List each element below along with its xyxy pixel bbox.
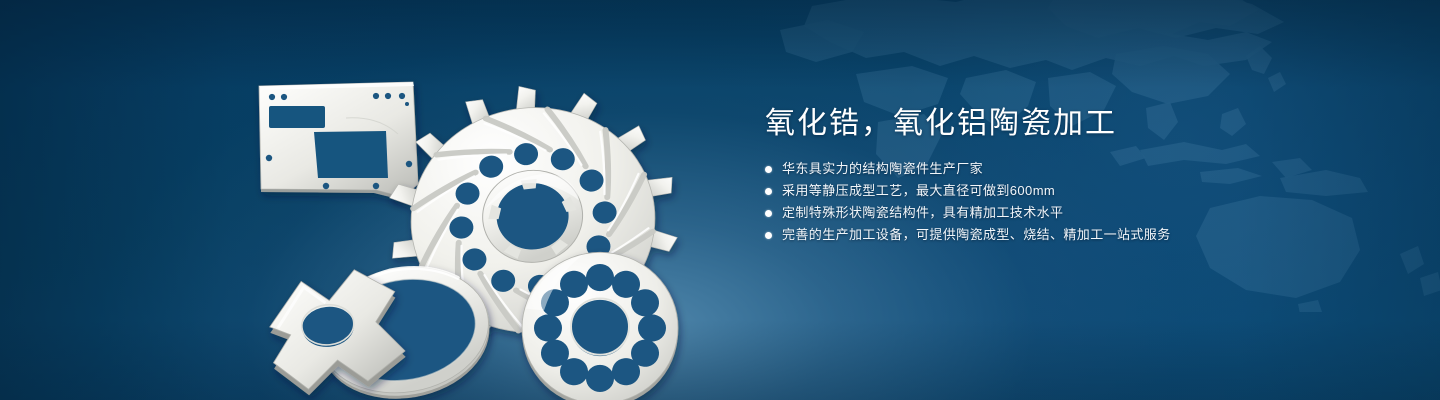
list-item: 采用等静压成型工艺，最大直径可做到600mm [765,180,1325,202]
list-item: 完善的生产加工设备，可提供陶瓷成型、烧结、精加工一站式服务 [765,224,1325,246]
list-item-label: 华东具实力的结构陶瓷件生产厂家 [782,158,983,180]
hero-banner: 氧化锆，氧化铝陶瓷加工 华东具实力的结构陶瓷件生产厂家 采用等静压成型工艺，最大… [0,0,1440,400]
list-item: 华东具实力的结构陶瓷件生产厂家 [765,158,1325,180]
bullet-dot-icon [765,166,772,173]
list-item-label: 定制特殊形状陶瓷结构件，具有精加工技术水平 [782,202,1063,224]
bullet-dot-icon [765,232,772,239]
list-item: 定制特殊形状陶瓷结构件，具有精加工技术水平 [765,202,1325,224]
ceramic-machined-plate [259,82,418,200]
ceramic-parts-photo [228,38,718,390]
page-title: 氧化锆，氧化铝陶瓷加工 [765,104,1325,144]
feature-list: 华东具实力的结构陶瓷件生产厂家 采用等静压成型工艺，最大直径可做到600mm 定… [765,158,1325,246]
bullet-dot-icon [765,188,772,195]
list-item-label: 完善的生产加工设备，可提供陶瓷成型、烧结、精加工一站式服务 [782,224,1171,246]
banner-text-block: 氧化锆，氧化铝陶瓷加工 华东具实力的结构陶瓷件生产厂家 采用等静压成型工艺，最大… [765,104,1325,246]
list-item-label: 采用等静压成型工艺，最大直径可做到600mm [782,180,1055,202]
bullet-dot-icon [765,210,772,217]
ceramic-perforated-disc [522,252,678,400]
